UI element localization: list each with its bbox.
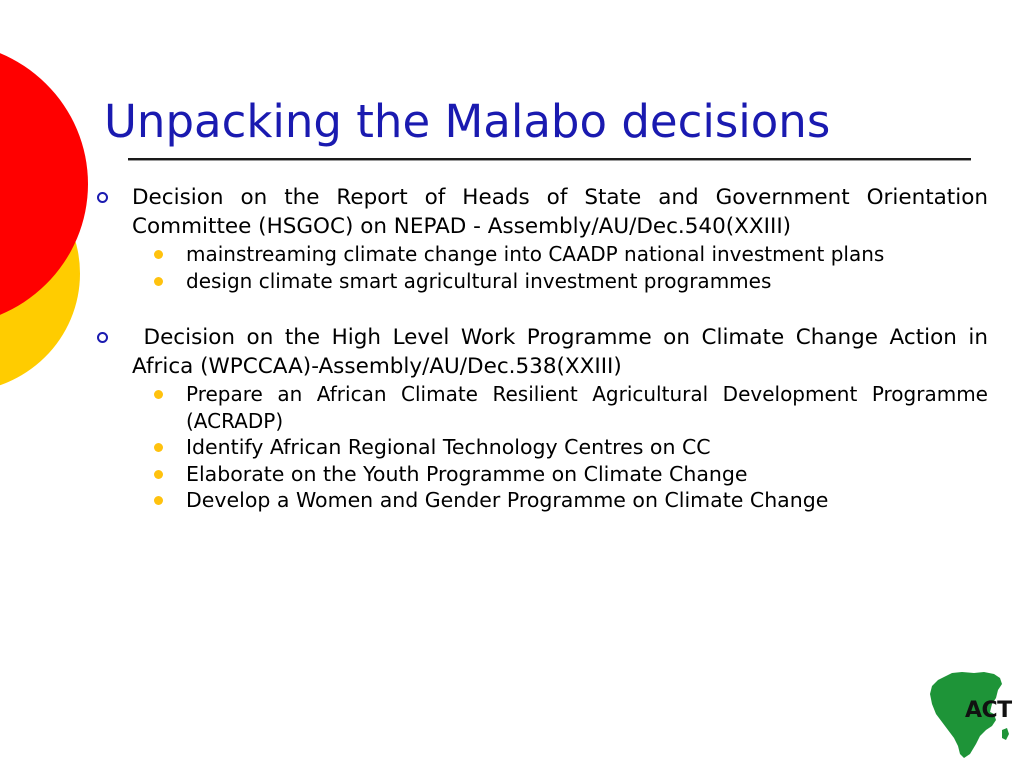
bullet-level1: Decision on the High Level Work Programm… [88,324,988,381]
bullet-level2: Elaborate on the Youth Programme on Clim… [88,461,988,488]
bullet-level2-text: Prepare an African Climate Resilient Agr… [186,381,988,434]
bullet-level2: Prepare an African Climate Resilient Agr… [88,381,988,434]
dot-bullet-icon [154,496,163,505]
bullet-level1-text: Decision on the High Level Work Programm… [132,324,988,381]
act-logo: ACT [922,668,1018,762]
dot-bullet-icon [154,250,163,259]
sub-bullet-list: mainstreaming climate change into CAADP … [88,241,988,294]
section-spacer [88,294,988,324]
logo-label: ACT [965,698,1012,723]
bullet-level2-text: design climate smart agricultural invest… [186,268,988,295]
title-divider [128,158,971,161]
title-block: Unpacking the Malabo decisions [104,96,976,161]
dot-bullet-icon [154,277,163,286]
bullet-level2: Develop a Women and Gender Programme on … [88,487,988,514]
hollow-circle-bullet-icon [97,192,108,203]
bullet-level2-text: Develop a Women and Gender Programme on … [186,487,988,514]
slide: Unpacking the Malabo decisions Decision … [0,0,1024,768]
bullet-level2-text: mainstreaming climate change into CAADP … [186,241,988,268]
bullet-level2: mainstreaming climate change into CAADP … [88,241,988,268]
bullet-level2-text: Elaborate on the Youth Programme on Clim… [186,461,988,488]
content-body: Decision on the Report of Heads of State… [88,184,988,514]
dot-bullet-icon [154,470,163,479]
bullet-level2: design climate smart agricultural invest… [88,268,988,295]
hollow-circle-bullet-icon [97,332,108,343]
dot-bullet-icon [154,390,163,399]
bullet-level2-text: Identify African Regional Technology Cen… [186,434,988,461]
sub-bullet-list: Prepare an African Climate Resilient Agr… [88,381,988,514]
bullet-level2: Identify African Regional Technology Cen… [88,434,988,461]
dot-bullet-icon [154,443,163,452]
bullet-level1-text: Decision on the Report of Heads of State… [132,184,988,241]
page-title: Unpacking the Malabo decisions [104,96,976,148]
bullet-level1: Decision on the Report of Heads of State… [88,184,988,241]
